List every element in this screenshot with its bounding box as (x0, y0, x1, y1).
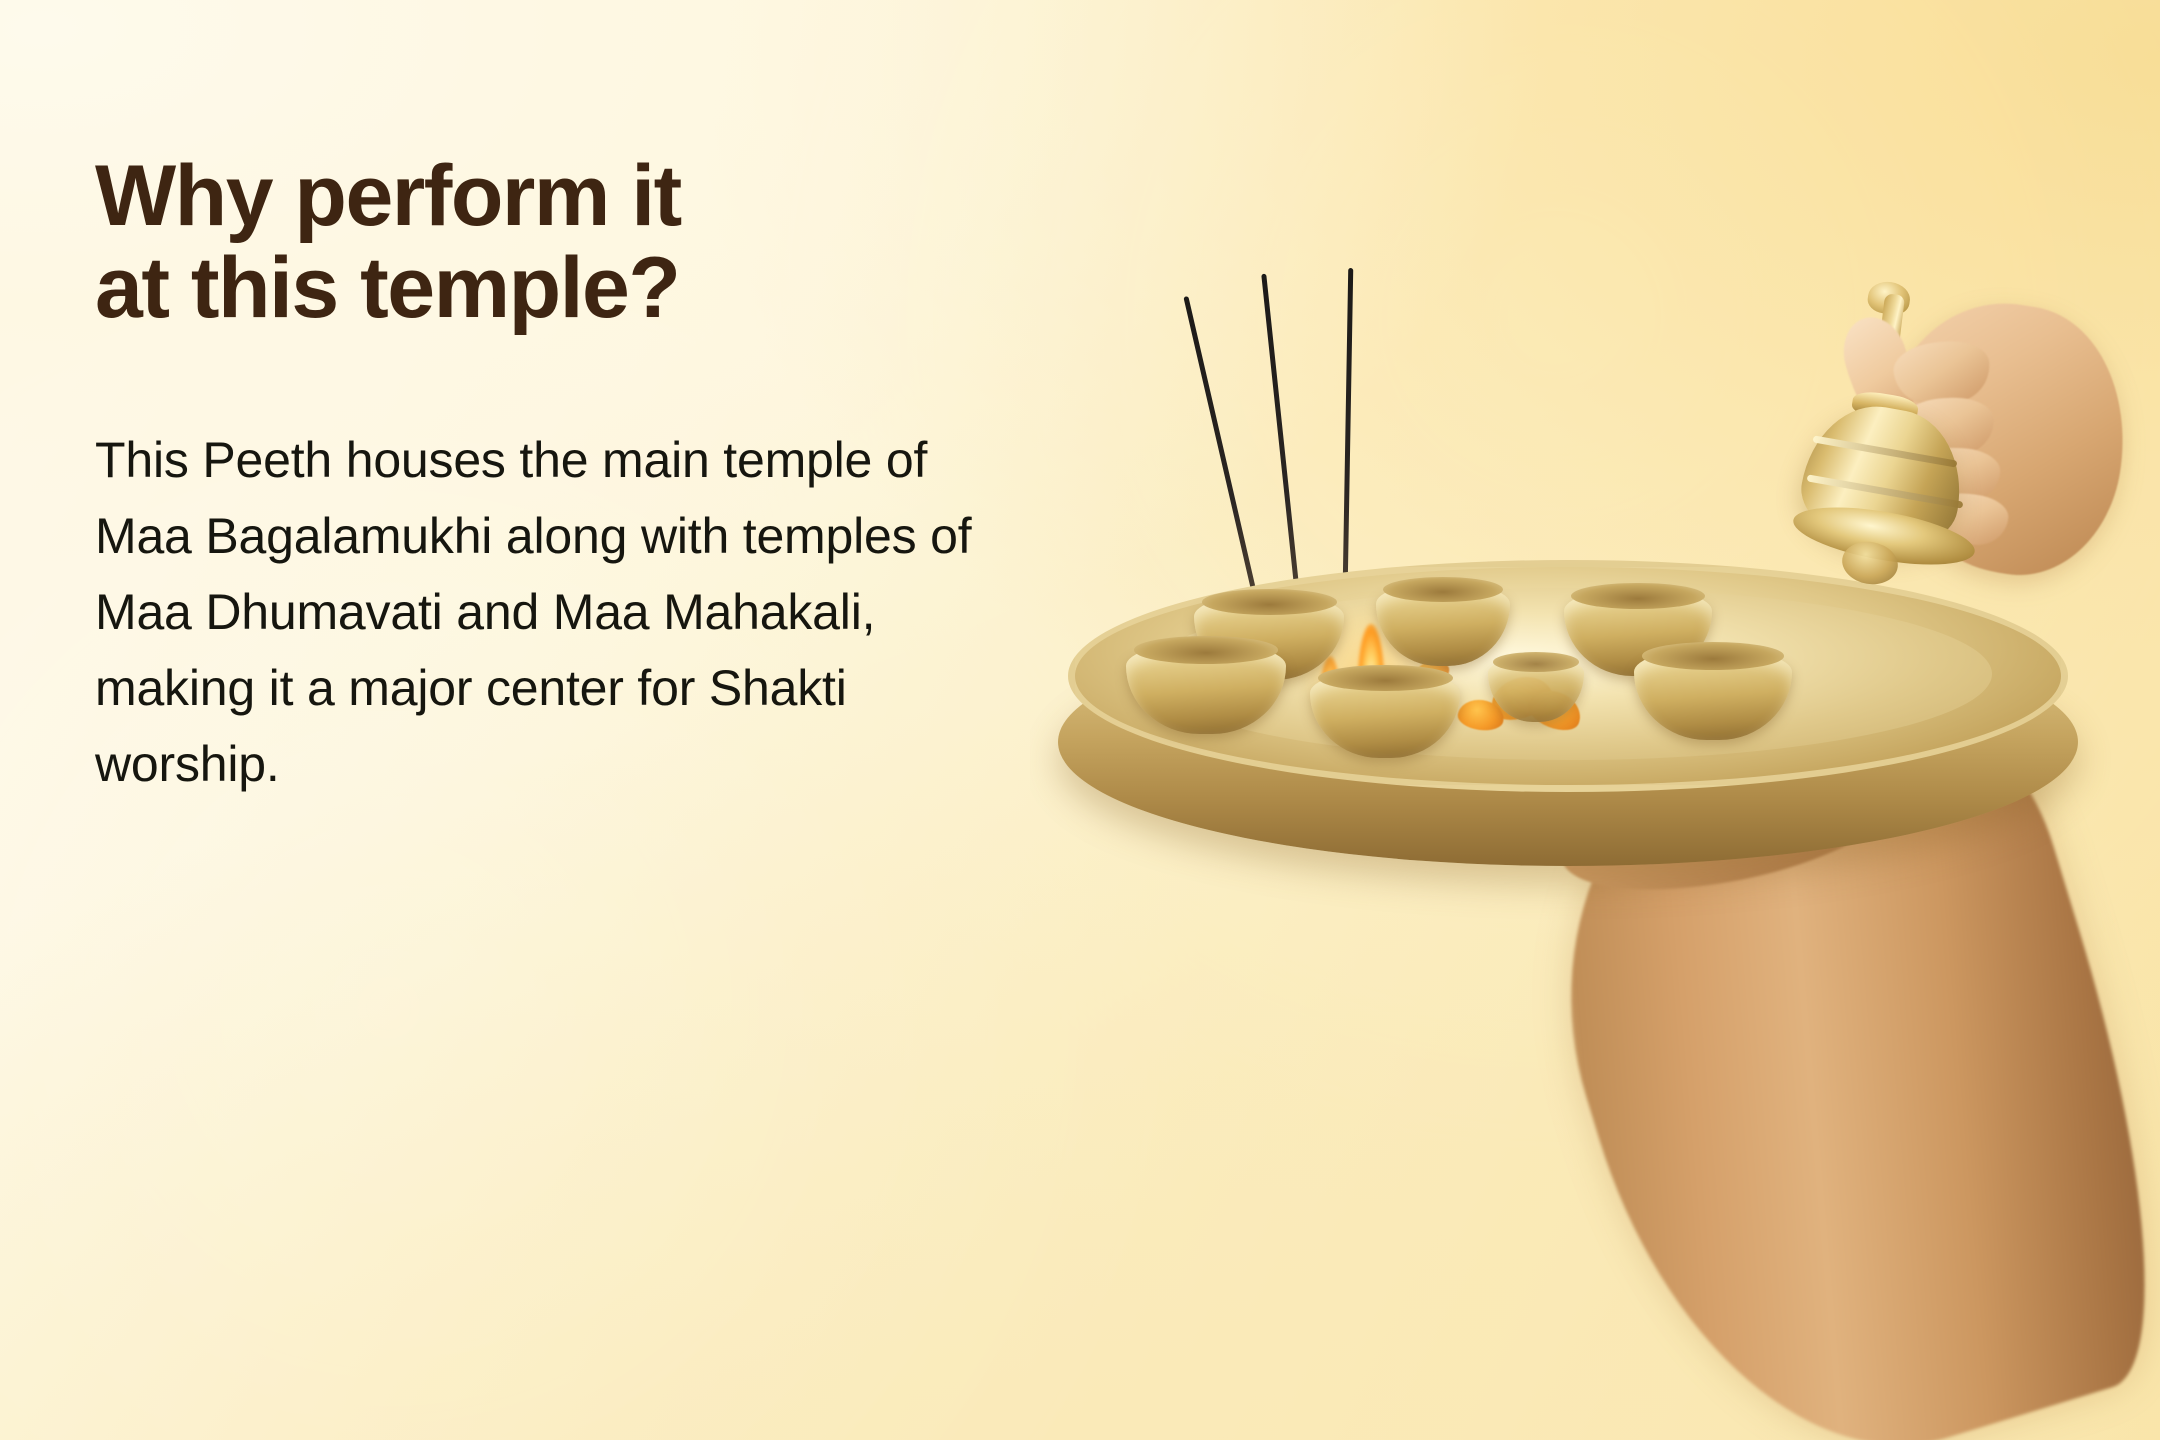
puja-photograph (1030, 0, 2160, 1440)
bell-hand (1790, 290, 2120, 630)
text-column: Why perform it at this temple? This Peet… (95, 150, 1055, 802)
body-paragraph: This Peeth houses the main temple of Maa… (95, 422, 1025, 802)
page-title: Why perform it at this temple? (95, 150, 1055, 334)
slide-root: Why perform it at this temple? This Peet… (0, 0, 2160, 1440)
